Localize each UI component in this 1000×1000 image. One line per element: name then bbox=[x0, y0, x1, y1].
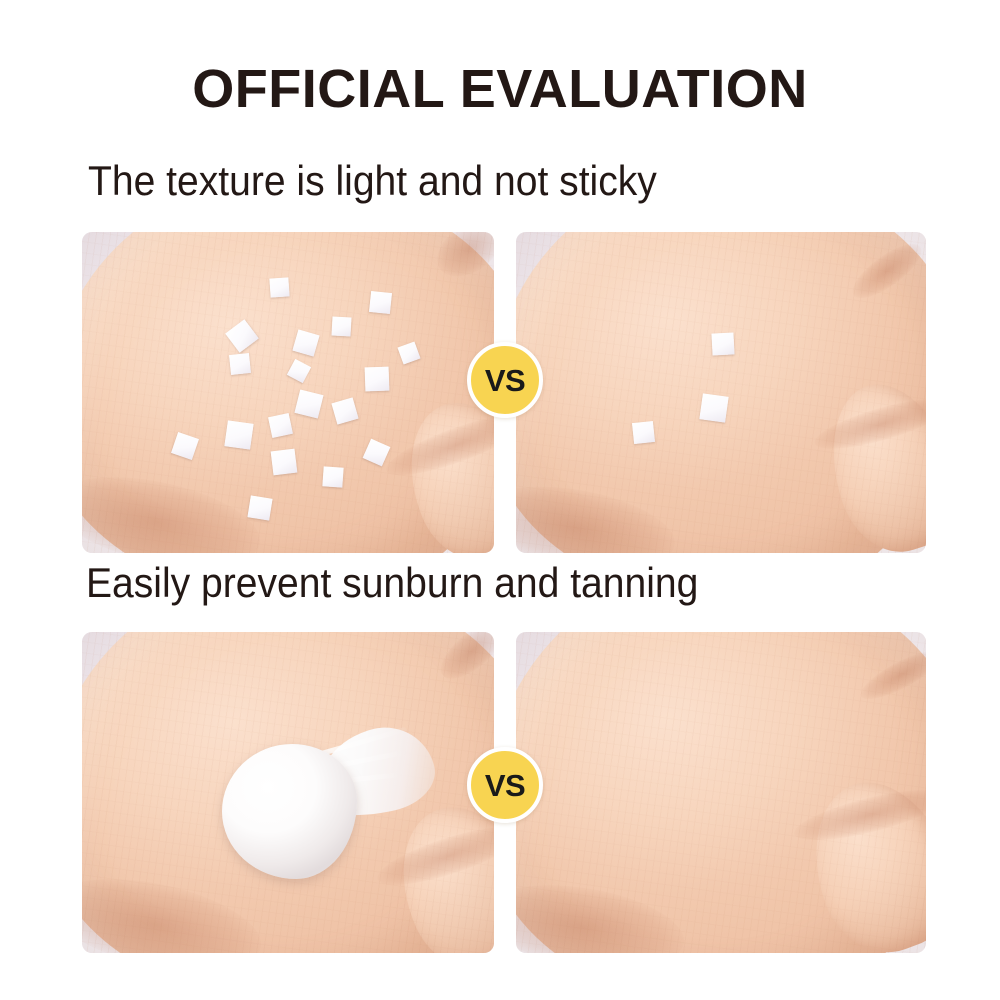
panel-vignette bbox=[516, 232, 926, 553]
panel-vignette bbox=[82, 632, 494, 953]
panel-vignette bbox=[82, 232, 494, 553]
photo-panel-hand-many-flakes bbox=[82, 232, 494, 553]
section-caption-sunburn: Easily prevent sunburn and tanning bbox=[86, 562, 698, 604]
vs-badge-bottom: VS bbox=[467, 747, 543, 823]
photo-panel-bare-hand bbox=[516, 632, 926, 953]
vs-badge-top: VS bbox=[467, 342, 543, 418]
vs-badge-label: VS bbox=[485, 770, 525, 801]
photo-panel-hand-few-flakes bbox=[516, 232, 926, 553]
vs-badge-label: VS bbox=[485, 365, 525, 396]
page-title: OFFICIAL EVALUATION bbox=[0, 62, 1000, 116]
photo-panel-hand-with-cream bbox=[82, 632, 494, 953]
section-caption-texture: The texture is light and not sticky bbox=[88, 160, 657, 202]
panel-vignette bbox=[516, 632, 926, 953]
